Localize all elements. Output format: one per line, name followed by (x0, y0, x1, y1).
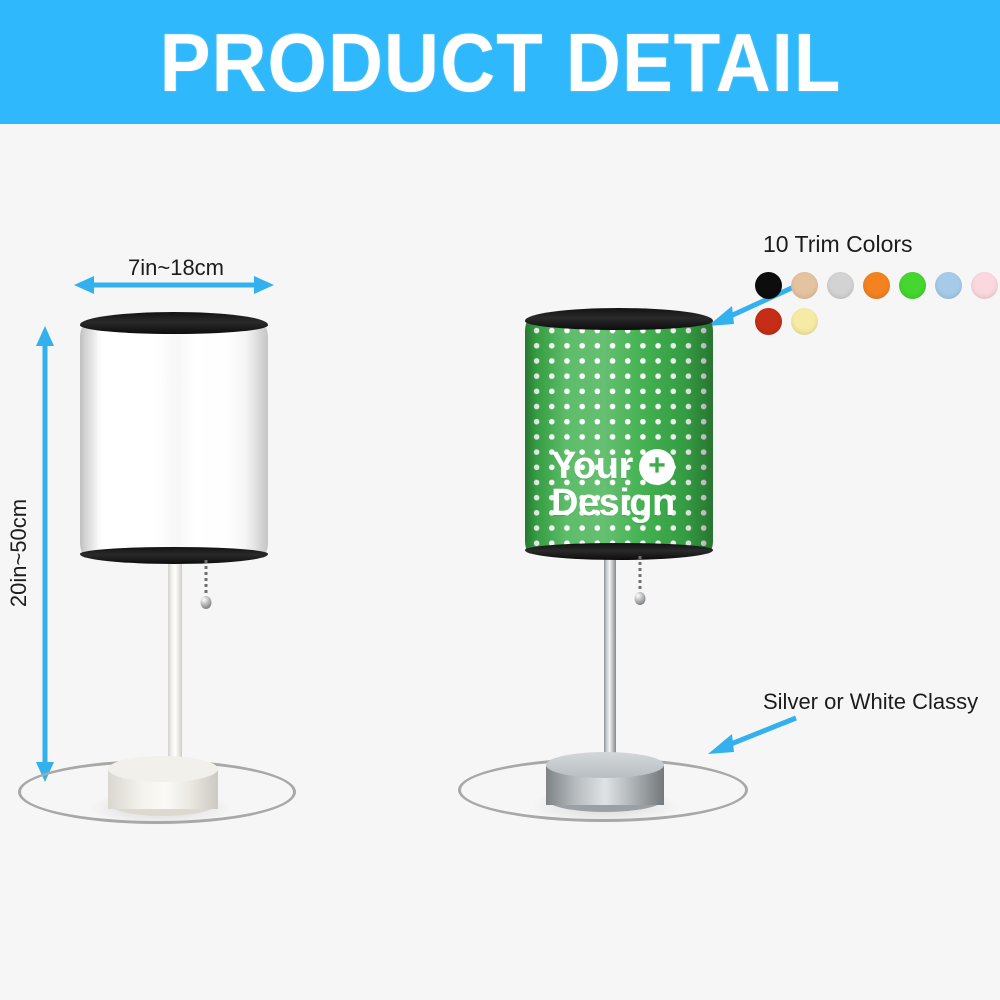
base-finish-pointer-arrow (700, 716, 800, 756)
swatch-pink[interactable] (971, 272, 998, 299)
swatch-dark-red[interactable] (755, 308, 782, 335)
green-lamp-pull-chain[interactable] (634, 556, 646, 596)
swatch-pale-yellow[interactable] (791, 308, 818, 335)
height-dimension-arrow (32, 326, 58, 782)
design-line-1-text: Your (551, 448, 633, 485)
design-line-1: Your + (551, 448, 675, 485)
product-detail-page: PRODUCT DETAIL (0, 0, 1000, 1000)
swatch-light-blue[interactable] (935, 272, 962, 299)
trim-colors-label: 10 Trim Colors (763, 231, 913, 258)
white-lamp-shade-surface (80, 324, 268, 556)
white-lamp-shade-gloss (80, 324, 268, 556)
base-finish-label: Silver or White Classy (763, 689, 978, 715)
design-line-2-text: Design (551, 485, 675, 522)
white-lamp-shade (80, 312, 268, 564)
swatch-tan[interactable] (791, 272, 818, 299)
custom-design-artwork: Your + Design (551, 448, 675, 522)
green-lamp-trim-bottom (525, 543, 713, 560)
white-lamp-trim-bottom (80, 547, 268, 564)
swatch-orange[interactable] (863, 272, 890, 299)
trim-color-swatches (755, 272, 1000, 335)
white-lamp-pole (168, 556, 182, 771)
green-lamp-pole (604, 552, 616, 768)
height-dimension-label: 20in~50cm (6, 499, 32, 607)
green-lamp-shade: Your + Design (525, 308, 713, 560)
swatch-green[interactable] (899, 272, 926, 299)
pull-chain-ball (635, 592, 646, 605)
green-lamp-trim-top (525, 308, 713, 330)
white-lamp-trim-top (80, 312, 268, 334)
white-lamp-base (108, 756, 218, 816)
swatch-light-gray[interactable] (827, 272, 854, 299)
swatch-black[interactable] (755, 272, 782, 299)
pull-chain-beads (205, 560, 208, 600)
green-dotted-lamp: Your + Design (440, 0, 800, 1000)
green-lamp-base-top (546, 752, 664, 778)
white-lamp-pull-chain[interactable] (200, 560, 212, 600)
pull-chain-ball (201, 596, 212, 609)
pull-chain-beads (639, 556, 642, 596)
plus-icon: + (639, 449, 675, 485)
white-lamp-base-top (108, 756, 218, 782)
width-dimension-arrow (74, 272, 274, 298)
design-line-2: Design (551, 485, 675, 522)
green-lamp-base (546, 752, 664, 812)
